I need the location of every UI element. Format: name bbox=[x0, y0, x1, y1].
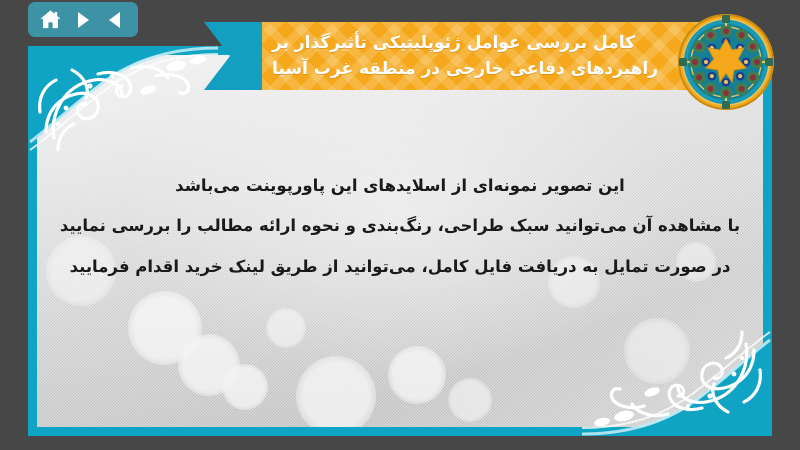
body-line: با مشاهده آن می‌توانید سبک طراحی، رنگ‌بن… bbox=[37, 206, 763, 246]
home-button[interactable] bbox=[37, 7, 63, 33]
body-line: در صورت تمایل به دریافت فایل کامل، می‌تو… bbox=[37, 247, 763, 287]
page-title-line: راهبردهای دفاعی خارجی در منطقه غرب آسیا bbox=[272, 56, 658, 82]
body-line: این تصویر نمونه‌ای از اسلایدهای این پاور… bbox=[37, 166, 763, 206]
forward-button[interactable] bbox=[70, 7, 96, 33]
back-triangle-icon bbox=[105, 9, 127, 31]
home-icon bbox=[39, 8, 62, 31]
ribbon-tail bbox=[204, 22, 266, 90]
persian-filigree-corner-icon bbox=[582, 321, 772, 436]
slide-body-text: این تصویر نمونه‌ای از اسلایدهای این پاور… bbox=[37, 166, 763, 287]
navigation-bar bbox=[28, 2, 138, 37]
presentation-slide: این تصویر نمونه‌ای از اسلایدهای این پاور… bbox=[28, 46, 772, 436]
back-button[interactable] bbox=[103, 7, 129, 33]
forward-triangle-icon bbox=[72, 9, 94, 31]
persian-filigree-corner-icon bbox=[28, 46, 218, 161]
page-title-line: کامل بررسی عوامل ژئوپلیتیکی تأثیرگذار بر bbox=[272, 30, 635, 56]
persian-medallion-ornament-icon bbox=[676, 12, 776, 112]
ribbon-body: کامل بررسی عوامل ژئوپلیتیکی تأثیرگذار بر… bbox=[262, 22, 714, 90]
slide-title-banner: کامل بررسی عوامل ژئوپلیتیکی تأثیرگذار بر… bbox=[204, 22, 714, 90]
slide-viewer: این تصویر نمونه‌ای از اسلایدهای این پاور… bbox=[0, 0, 800, 450]
